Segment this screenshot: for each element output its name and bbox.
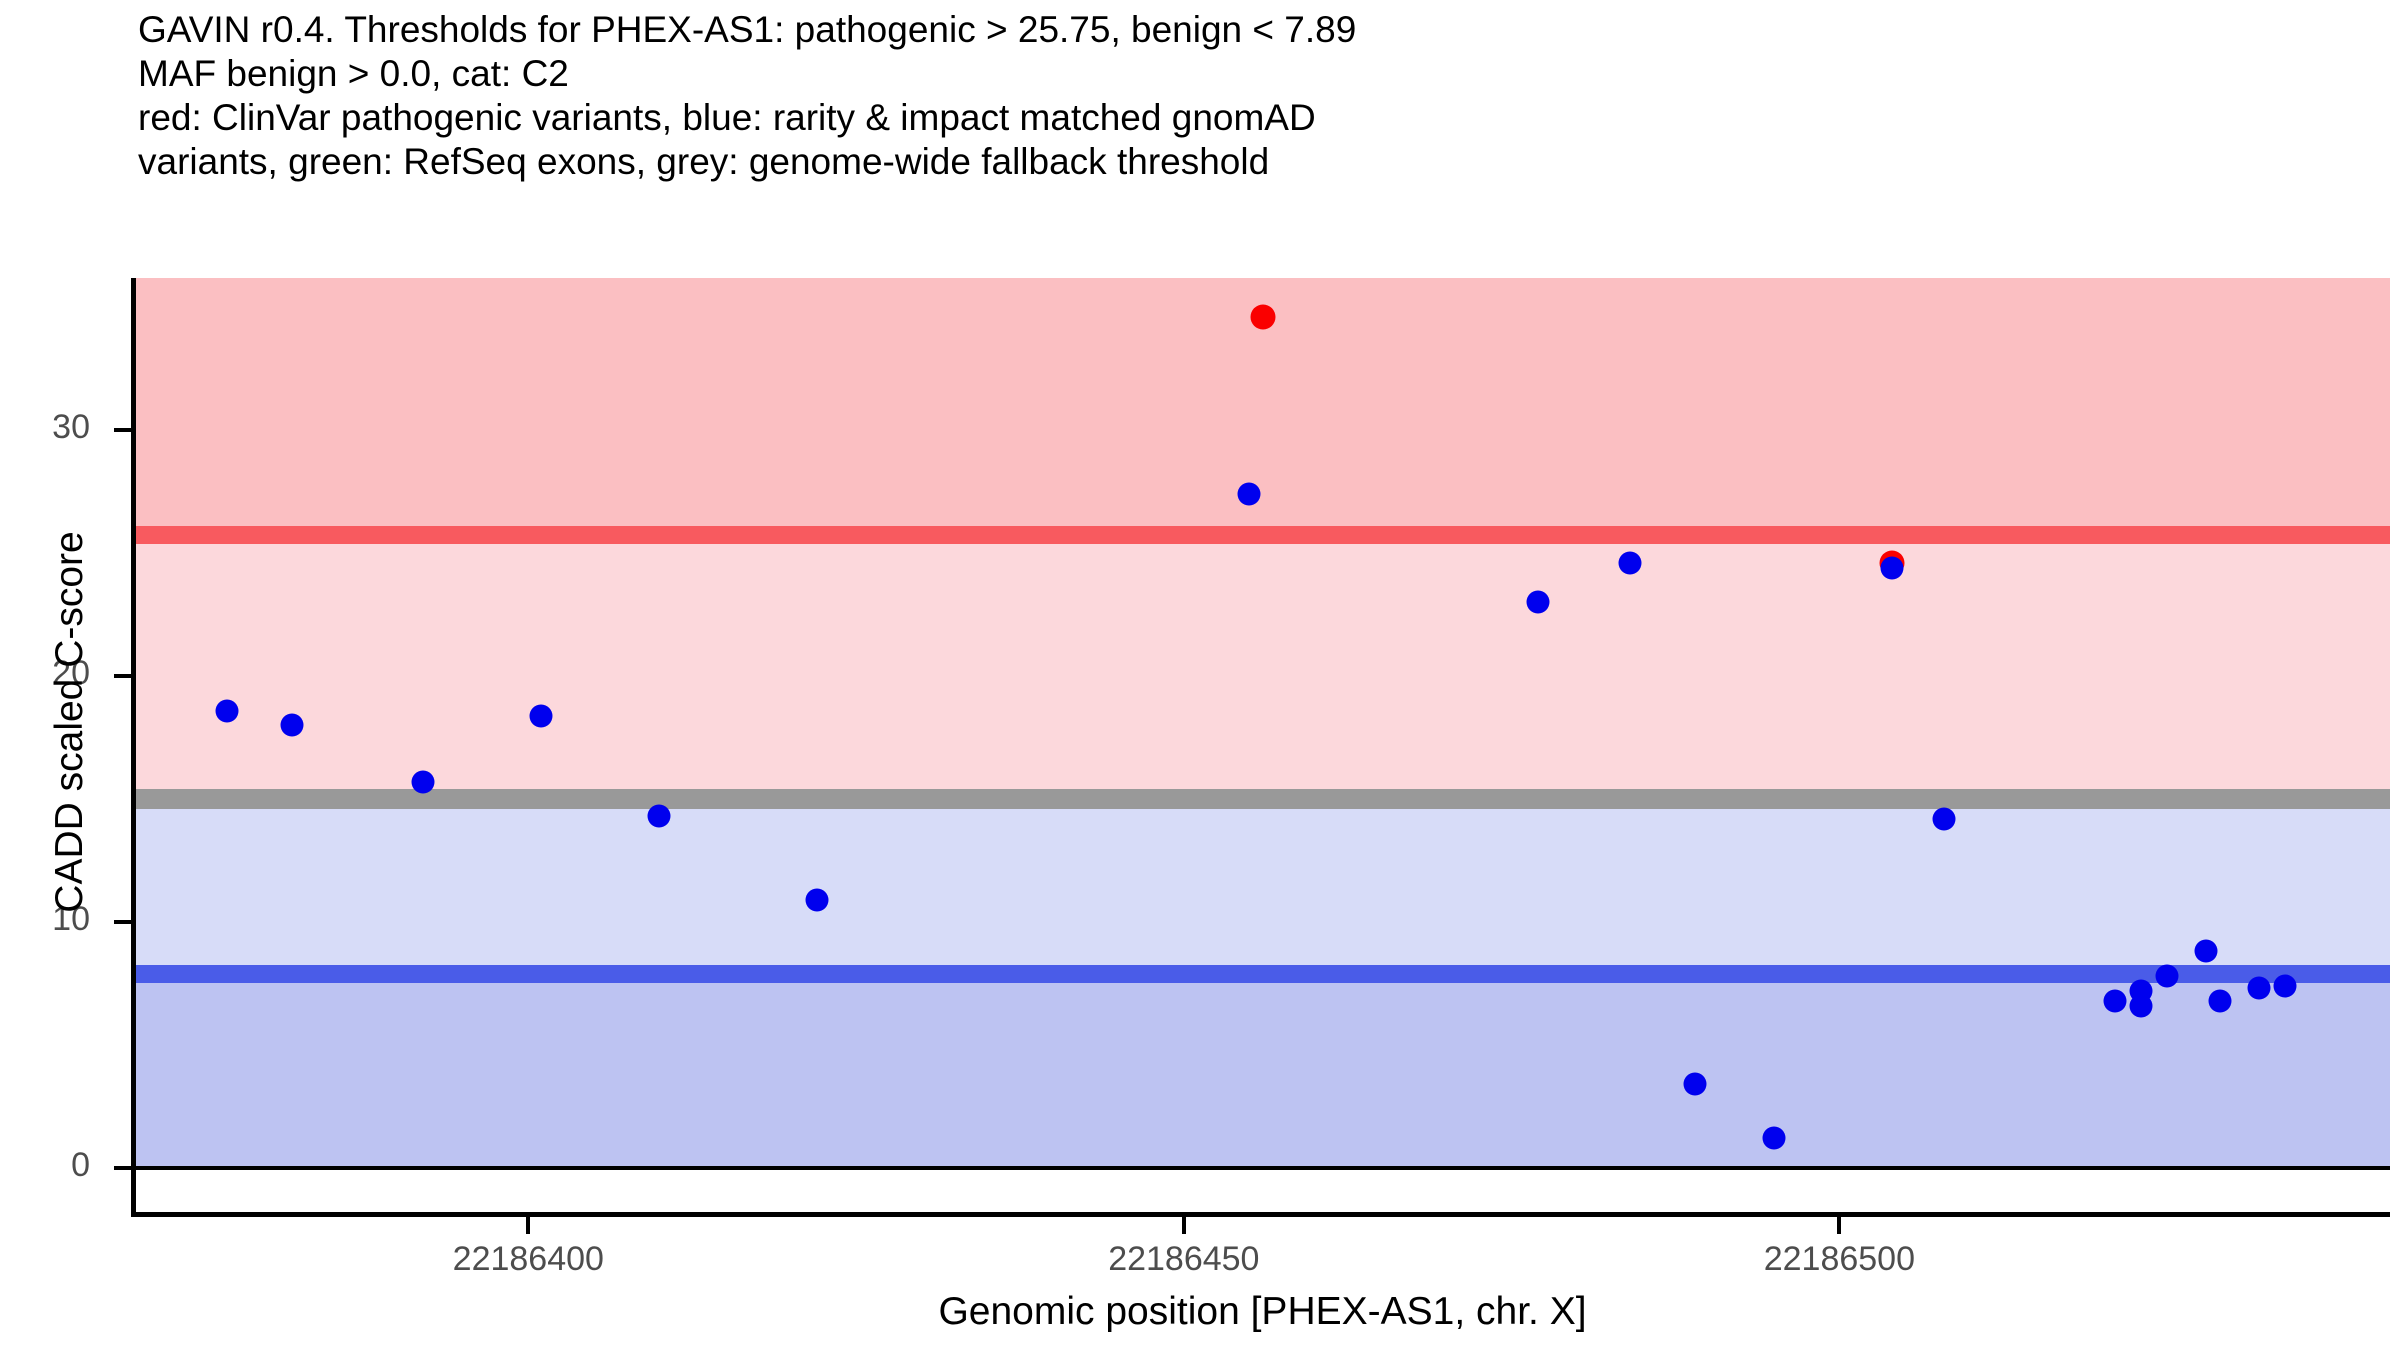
data-point	[2274, 974, 2297, 997]
band-benign	[135, 974, 2390, 1168]
plot-panel	[135, 278, 2390, 1212]
x-axis-title: Genomic position [PHEX-AS1, chr. X]	[135, 1290, 2390, 1334]
plot-title: GAVIN r0.4. Thresholds for PHEX-AS1: pat…	[138, 8, 2338, 184]
x-tick-mark	[526, 1217, 530, 1234]
title-line-2: MAF benign > 0.0, cat: C2	[138, 52, 2338, 96]
y-axis-line	[131, 278, 136, 1216]
threshold-line-benign	[135, 965, 2390, 983]
data-point	[530, 704, 553, 727]
zero-line	[135, 1166, 2390, 1170]
data-point	[1250, 305, 1275, 330]
band-ambiguous-lower	[135, 799, 2390, 974]
data-point	[2156, 965, 2179, 988]
data-point	[1762, 1127, 1785, 1150]
data-point	[805, 888, 828, 911]
data-point	[1238, 483, 1261, 506]
x-tick-mark	[1837, 1217, 1841, 1234]
y-tick-mark	[114, 428, 131, 432]
title-line-4: variants, green: RefSeq exons, grey: gen…	[138, 140, 2338, 184]
data-point	[1526, 591, 1549, 614]
y-tick-mark	[114, 674, 131, 678]
x-tick-label: 22186500	[1764, 1240, 1915, 1279]
y-tick-mark	[114, 920, 131, 924]
data-point	[1880, 557, 1903, 580]
data-point	[1684, 1073, 1707, 1096]
x-axis-line	[131, 1212, 2390, 1217]
title-line-1: GAVIN r0.4. Thresholds for PHEX-AS1: pat…	[138, 8, 2338, 52]
title-line-3: red: ClinVar pathogenic variants, blue: …	[138, 96, 2338, 140]
data-point	[648, 805, 671, 828]
x-tick-label: 22186450	[1108, 1240, 1259, 1279]
threshold-line-pathogenic	[135, 526, 2390, 544]
plot-root: GAVIN r0.4. Thresholds for PHEX-AS1: pat…	[0, 0, 2400, 1350]
data-point	[215, 699, 238, 722]
threshold-line-genome-wide-fallback	[135, 789, 2390, 809]
data-point	[2129, 994, 2152, 1017]
x-tick-label: 22186400	[453, 1240, 604, 1279]
y-tick-mark	[114, 1166, 131, 1170]
data-point	[1618, 552, 1641, 575]
data-point	[2208, 989, 2231, 1012]
x-tick-mark	[1182, 1217, 1186, 1234]
data-point	[2247, 977, 2270, 1000]
data-point	[412, 770, 435, 793]
data-point	[281, 714, 304, 737]
data-point	[1933, 807, 1956, 830]
y-axis-title: CADD scaled C-score	[48, 272, 92, 1172]
data-point	[2195, 940, 2218, 963]
band-ambiguous-upper	[135, 535, 2390, 799]
data-point	[2103, 989, 2126, 1012]
